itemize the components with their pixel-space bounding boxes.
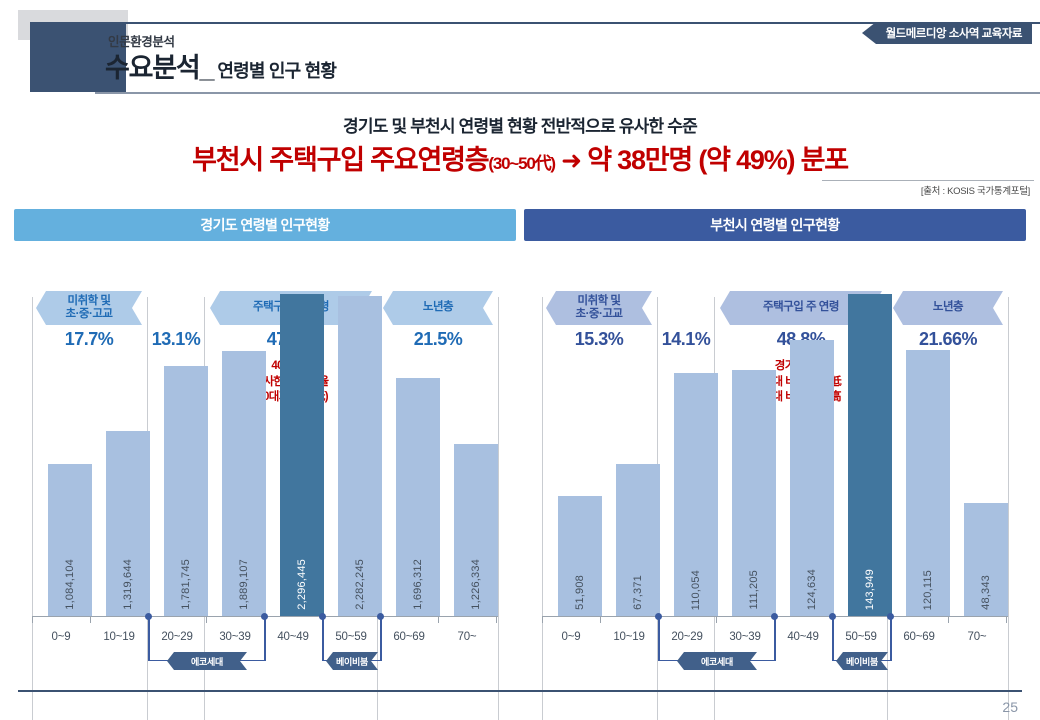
chart-title-gyeonggi: 경기도 연령별 인구현황: [14, 209, 516, 241]
headline-age-range: (30~50代): [488, 154, 554, 173]
bar-value-label: 2,282,245: [354, 559, 366, 610]
generation-tag-eco: 에코세대: [677, 652, 757, 670]
bar-value-label: 120,115: [922, 570, 934, 610]
bar-10-19: 67,371: [616, 464, 660, 616]
chart-area-bucheon: 미취학 및 초·중·고교 주택구입 주 연령 노년층 15.3% 14.1% 4…: [524, 241, 1026, 679]
chart-area-gyeonggi: 미취학 및 초·중·고교 주택구입 주 연령 노년층 17.7% 13.1% 4…: [14, 241, 516, 679]
header-rule-bottom: [95, 92, 1040, 94]
arrow-icon: ➜: [561, 147, 581, 175]
bar-value-label: 2,296,445: [296, 559, 308, 610]
x-label-30-39: 30~39: [716, 631, 774, 643]
x-axis-tick: [1006, 616, 1007, 623]
bar-value-label: 1,696,312: [412, 559, 424, 610]
bar-70-plus: 48,343: [964, 503, 1008, 616]
bar-20-29: 1,781,745: [164, 366, 208, 616]
bar-value-label: 1,226,334: [470, 559, 482, 610]
ribbon-label: 월드메르디앙 소사역 교육자료: [876, 22, 1032, 44]
generation-leader-line: [380, 617, 382, 661]
source-note: [출처 : KOSIS 국가통계포털]: [921, 183, 1030, 197]
chart-title-bucheon: 부천시 연령별 인구현황: [524, 209, 1026, 241]
generation-leader-line: [322, 617, 324, 661]
bar-10-19: 1,319,644: [106, 431, 150, 616]
page-title-sub: 연령별 인구 현황: [217, 61, 336, 81]
bar-50-59: 143,949: [848, 294, 892, 616]
x-label-70-plus: 70~: [438, 631, 496, 643]
bar-70-plus: 1,226,334: [454, 444, 498, 616]
x-label-20-29: 20~29: [658, 631, 716, 643]
x-axis-tick: [32, 616, 33, 623]
footer-rule: [18, 690, 1022, 692]
x-label-40-49: 40~49: [264, 631, 322, 643]
x-label-10-19: 10~19: [90, 631, 148, 643]
x-label-60-69: 60~69: [380, 631, 438, 643]
x-label-50-59: 50~59: [322, 631, 380, 643]
bar-60-69: 1,696,312: [396, 378, 440, 616]
bar-20-29: 110,054: [674, 373, 718, 616]
x-label-70-plus: 70~: [948, 631, 1006, 643]
generation-leader-line: [832, 617, 834, 661]
x-label-0-9: 0~9: [542, 631, 600, 643]
x-axis-tick: [716, 616, 717, 623]
bar-value-label: 124,634: [806, 569, 818, 610]
x-label-60-69: 60~69: [890, 631, 948, 643]
chart-panel-gyeonggi: 경기도 연령별 인구현황 미취학 및 초·중·고교 주택구입 주 연령 노년층: [14, 209, 516, 679]
x-label-50-59: 50~59: [832, 631, 890, 643]
bar-60-69: 120,115: [906, 350, 950, 616]
x-axis-tick: [90, 616, 91, 623]
bar-0-9: 51,908: [558, 496, 602, 616]
headline-part-2: 약 38만명 (약 49%) 분포: [587, 145, 848, 175]
course-ribbon: 월드메르디앙 소사역 교육자료: [862, 22, 1032, 44]
generation-tag-babyboom: 베이비붐: [326, 652, 378, 670]
bar-value-label: 110,054: [690, 570, 702, 610]
bar-value-label: 1,781,745: [180, 559, 192, 610]
ribbon-tail-icon: [862, 22, 876, 44]
bar-40-49: 2,296,445: [280, 294, 324, 616]
generation-tag-eco: 에코세대: [167, 652, 247, 670]
generation-leader-line: [658, 617, 660, 661]
bar-value-label: 111,205: [748, 570, 760, 610]
generation-leader-line: [148, 617, 150, 661]
x-label-30-39: 30~39: [206, 631, 264, 643]
generation-leader-line: [264, 617, 266, 661]
x-axis-tick: [948, 616, 949, 623]
slide: 인문환경분석 수요분석_연령별 인구 현황 월드메르디앙 소사역 교육자료 경기…: [0, 0, 1040, 720]
x-axis-tick: [206, 616, 207, 623]
bar-30-39: 111,205: [732, 370, 776, 616]
bar-value-label: 1,889,107: [238, 559, 250, 610]
chart-panel-bucheon: 부천시 연령별 인구현황 미취학 및 초·중·고교 주택구입 주 연령 노년층 …: [524, 209, 1026, 679]
generation-tag-babyboom: 베이비붐: [836, 652, 888, 670]
bar-0-9: 1,084,104: [48, 464, 92, 616]
headline-part-1: 부천시 주택구입 주요연령층: [192, 145, 488, 175]
bar-value-label: 1,084,104: [64, 559, 76, 610]
x-label-0-9: 0~9: [32, 631, 90, 643]
bar-value-label: 51,908: [574, 575, 586, 610]
subtitle-line: 경기도 및 부천시 연령별 현황 전반적으로 유사한 수준: [0, 112, 1040, 137]
bar-50-59: 2,282,245: [338, 296, 382, 616]
x-axis-tick: [542, 616, 543, 623]
x-label-20-29: 20~29: [148, 631, 206, 643]
x-label-40-49: 40~49: [774, 631, 832, 643]
page-number: 25: [1002, 699, 1018, 715]
x-label-10-19: 10~19: [600, 631, 658, 643]
generation-leader-line: [890, 617, 892, 661]
bar-30-39: 1,889,107: [222, 351, 266, 616]
bar-value-label: 48,343: [980, 575, 992, 610]
source-rule: [822, 180, 1034, 181]
x-axis-tick: [438, 616, 439, 623]
page-title: 수요분석_연령별 인구 현황: [105, 46, 336, 85]
x-axis-tick: [496, 616, 497, 623]
headline: 부천시 주택구입 주요연령층(30~50代) ➜ 약 38만명 (약 49%) …: [0, 138, 1040, 177]
x-axis-tick: [600, 616, 601, 623]
bar-value-label: 143,949: [864, 569, 876, 610]
bar-40-49: 124,634: [790, 340, 834, 616]
bar-value-label: 1,319,644: [122, 559, 134, 610]
generation-leader-line: [774, 617, 776, 661]
page-title-main: 수요분석_: [105, 53, 213, 83]
bar-value-label: 67,371: [632, 575, 644, 610]
